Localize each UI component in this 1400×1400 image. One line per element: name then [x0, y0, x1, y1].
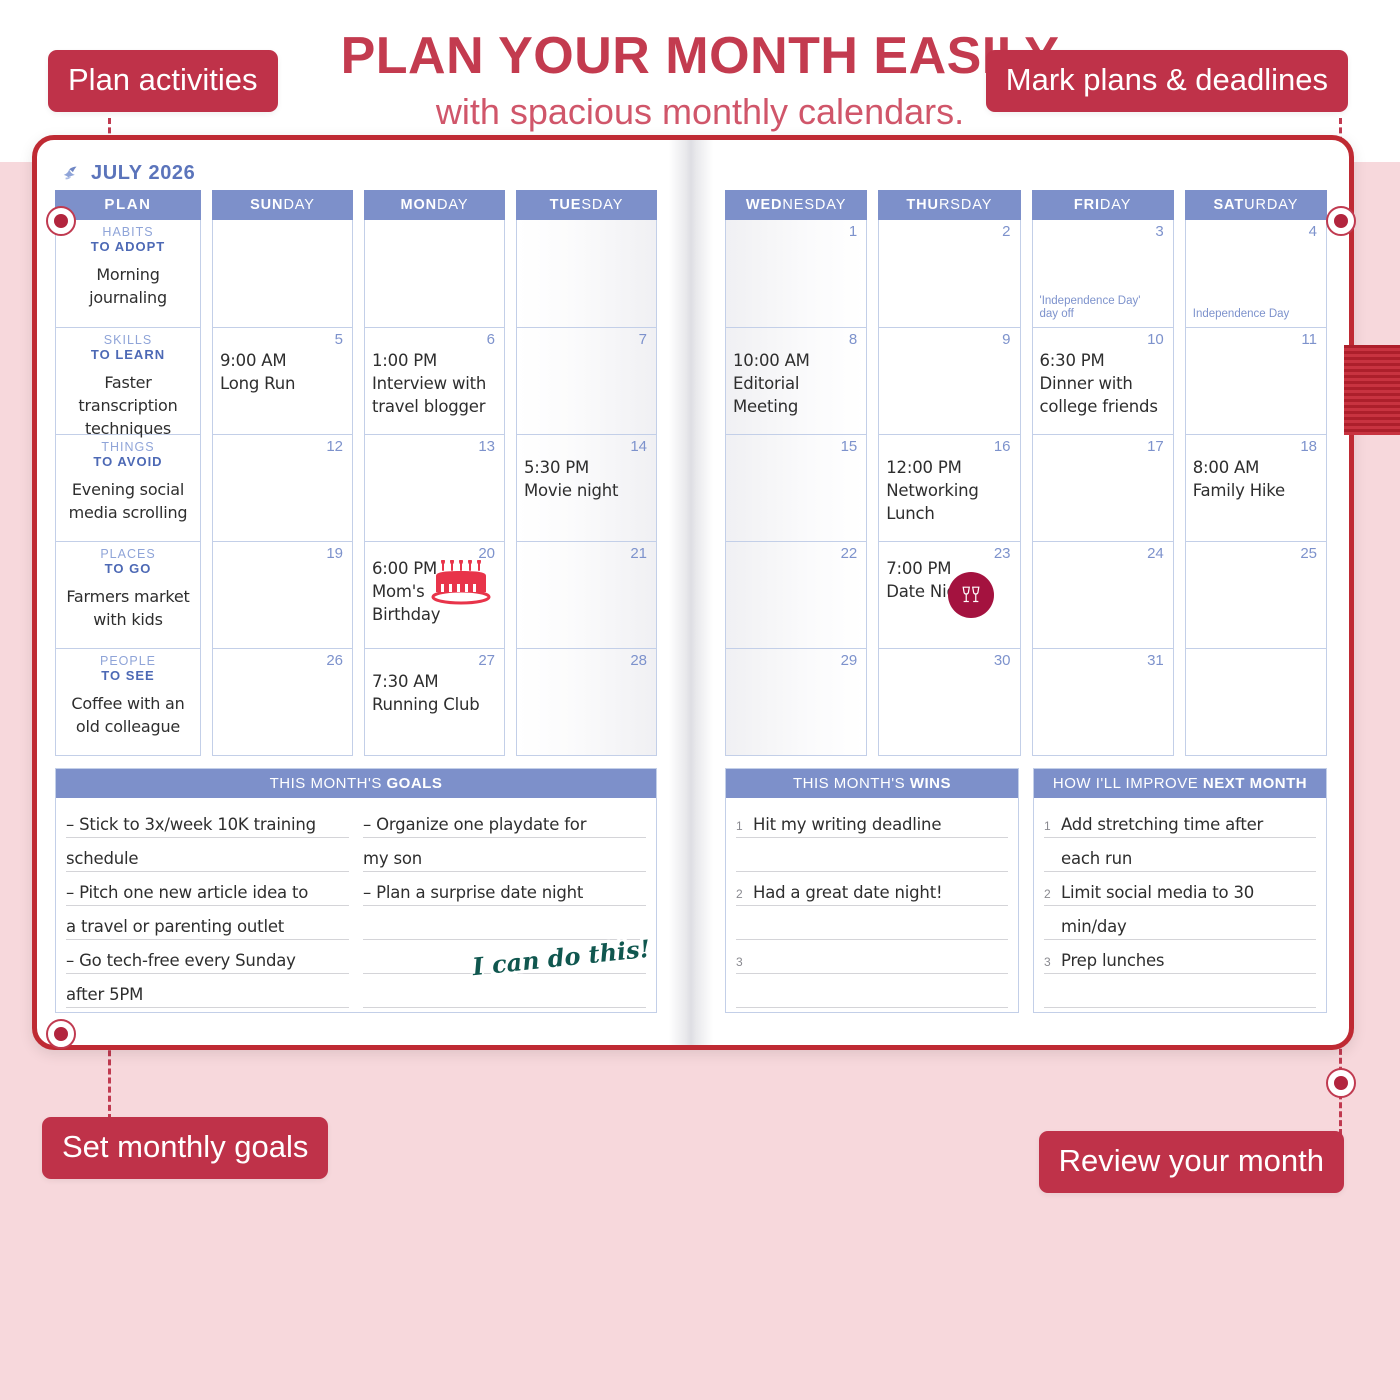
writing-line[interactable]: 3 [736, 940, 1008, 974]
calendar-cell[interactable]: 4Independence Day [1186, 220, 1326, 327]
calendar-cell[interactable]: 1 [726, 220, 866, 327]
calendar-day-number: 23 [994, 545, 1011, 562]
plan-row-value: Evening socialmedia scrolling [60, 478, 196, 524]
day-column-wednesday: WEDNESDAY 1810:00 AMEditorialMeeting1522… [725, 190, 867, 756]
line-number: 1 [1044, 819, 1050, 833]
plan-column: PLAN HABITSTO ADOPTMorningjournalingSKIL… [55, 190, 201, 756]
goals-section: THIS MONTH'S GOALS – Stick to 3x/week 10… [55, 768, 657, 1013]
calendar-day-number: 3 [1155, 223, 1163, 240]
writing-line[interactable]: 2Limit social media to 30 [1044, 872, 1316, 906]
calendar-event-text: 5:30 PMMovie night [524, 457, 649, 503]
day-header-rest: SDAY [581, 197, 623, 213]
day-column-sunday: SUNDAY 59:00 AMLong Run121926 [212, 190, 353, 756]
plan-row-1[interactable]: HABITSTO ADOPTMorningjournaling [56, 220, 200, 327]
goals-left-lines[interactable]: – Stick to 3x/week 10K trainingschedule–… [66, 804, 349, 1008]
plan-row-kicker: PLACES [60, 547, 196, 561]
plan-row-kicker: THINGS [60, 440, 196, 454]
wine-glasses-sticker [948, 572, 994, 618]
writing-line[interactable]: after 5PM [66, 974, 349, 1008]
calendar-cell[interactable]: 12 [213, 434, 352, 541]
improve-box-body: 1Add stretching time aftereach run2Limit… [1034, 798, 1326, 1012]
calendar-holiday-note: Independence Day [1193, 308, 1320, 322]
calendar-day-number: 12 [326, 438, 343, 455]
calendar-cell[interactable]: 26 [213, 648, 352, 755]
writing-line[interactable] [736, 906, 1008, 940]
day-cell-list: 3'Independence Day'day off106:30 PMDinne… [1032, 220, 1174, 756]
day-cell-list: 291612:00 PMNetworkingLunch237:00 PMDate… [878, 220, 1020, 756]
calendar-day-number: 6 [487, 331, 495, 348]
wins-header-light: THIS MONTH'S [793, 775, 910, 792]
calendar-day-number: 11 [1301, 331, 1317, 348]
calendar-day-number: 2 [1002, 223, 1010, 240]
day-cell-list: 4Independence Day11188:00 AMFamily Hike2… [1185, 220, 1327, 756]
writing-line[interactable]: 1Add stretching time after [1044, 804, 1316, 838]
calendar-day-number: 28 [630, 652, 647, 669]
plan-row-kicker: SKILLS [60, 333, 196, 347]
calendar-day-number: 17 [1147, 438, 1164, 455]
day-header-rest: DAY [1100, 197, 1131, 213]
planner-page-right: WEDNESDAY 1810:00 AMEditorialMeeting1522… [713, 140, 1345, 1045]
line-text: schedule [66, 849, 138, 868]
calendar-cell[interactable] [213, 220, 352, 327]
review-section: THIS MONTH'S WINS 1Hit my writing deadli… [725, 768, 1327, 1013]
calendar-cell[interactable]: 13 [365, 434, 504, 541]
day-header-bold: FRI [1074, 197, 1100, 213]
plan-row-value: Coffee with anold colleague [60, 692, 196, 738]
callout-plan-activities: Plan activities [48, 50, 278, 112]
writing-line[interactable] [1044, 974, 1316, 1008]
day-header-bold: MON [401, 197, 438, 213]
calendar-cell[interactable]: 17 [1033, 434, 1173, 541]
day-header-sunday: SUNDAY [212, 190, 353, 220]
line-text: Had a great date night! [753, 883, 942, 902]
calendar-day-number: 1 [849, 223, 857, 240]
calendar-event-text: 12:00 PMNetworkingLunch [886, 457, 1012, 525]
line-text: Limit social media to 30 [1061, 883, 1254, 902]
wins-box-body: 1Hit my writing deadline2Had a great dat… [726, 798, 1018, 1012]
plan-row-4[interactable]: PLACESTO GOFarmers marketwith kids [56, 541, 200, 648]
calendar-day-number: 14 [630, 438, 647, 455]
line-text: – Organize one playdate for [363, 815, 586, 834]
calendar-event-text: 10:00 AMEditorialMeeting [733, 350, 859, 418]
day-header-rest: DAY [283, 197, 314, 213]
line-text: after 5PM [66, 985, 143, 1004]
line-number: 3 [736, 955, 742, 969]
day-column-tuesday: TUESDAY 7145:30 PMMovie night2128 [516, 190, 657, 756]
day-header-bold: SAT [1213, 197, 1244, 213]
calendar-grid-right: WEDNESDAY 1810:00 AMEditorialMeeting1522… [725, 190, 1327, 756]
book-gutter [669, 140, 713, 1045]
anchor-dot-top-left [46, 206, 76, 236]
month-title: JULY 2026 [91, 162, 195, 185]
day-header-rest: NESDAY [782, 197, 846, 213]
writing-line[interactable]: – Pitch one new article idea to [66, 872, 349, 906]
anchor-dot-top-right [1326, 206, 1356, 236]
calendar-holiday-note: 'Independence Day'day off [1040, 295, 1167, 322]
calendar-day-number: 4 [1309, 223, 1317, 240]
plan-row-value: Morningjournaling [60, 263, 196, 309]
calendar-cell[interactable]: 22 [726, 541, 866, 648]
calendar-day-number: 5 [335, 331, 343, 348]
calendar-cell[interactable]: 7 [517, 327, 656, 434]
calendar-day-number: 26 [326, 652, 343, 669]
calendar-cell[interactable]: 31 [1033, 648, 1173, 755]
calendar-event-text: 7:30 AMRunning Club [372, 671, 497, 717]
line-number: 2 [736, 887, 742, 901]
calendar-cell[interactable]: 206:00 PMMom's Birthday [365, 541, 504, 648]
calendar-cell[interactable]: 61:00 PMInterview withtravel blogger [365, 327, 504, 434]
calendar-day-number: 27 [478, 652, 495, 669]
birthday-cake-sticker [430, 560, 492, 606]
plan-row-label: TO SEE [60, 668, 196, 684]
day-header-thursday: THURSDAY [878, 190, 1020, 220]
plan-row-3[interactable]: THINGSTO AVOIDEvening socialmedia scroll… [56, 434, 200, 541]
day-header-rest: RSDAY [939, 197, 992, 213]
day-cell-list: 61:00 PMInterview withtravel blogger1320… [364, 220, 505, 756]
calendar-cell[interactable]: 237:00 PMDate Night [879, 541, 1019, 648]
day-column-monday: MONDAY 61:00 PMInterview withtravel blog… [364, 190, 505, 756]
plan-row-label: TO LEARN [60, 347, 196, 363]
day-cell-list: 1810:00 AMEditorialMeeting152229 [725, 220, 867, 756]
calendar-cell[interactable]: 21 [517, 541, 656, 648]
calendar-cell[interactable]: 24 [1033, 541, 1173, 648]
calendar-cell[interactable]: 9 [879, 327, 1019, 434]
calendar-day-number: 22 [841, 545, 858, 562]
plan-row-kicker: HABITS [60, 225, 196, 239]
callout-mark-plans-deadlines: Mark plans & deadlines [986, 50, 1348, 112]
plan-row-label: TO ADOPT [60, 239, 196, 255]
line-text: my son [363, 849, 422, 868]
writing-line[interactable]: – Go tech-free every Sunday [66, 940, 349, 974]
goals-box: THIS MONTH'S GOALS – Stick to 3x/week 10… [55, 768, 657, 1013]
line-number: 1 [736, 819, 742, 833]
calendar-cell[interactable]: 277:30 AMRunning Club [365, 648, 504, 755]
writing-line[interactable] [363, 974, 646, 1008]
calendar-day-number: 31 [1147, 652, 1164, 669]
writing-line[interactable]: – Plan a surprise date night [363, 872, 646, 906]
day-header-friday: FRIDAY [1032, 190, 1174, 220]
banner-subtitle: with spacious monthly calendars. [436, 91, 964, 133]
day-header-rest: DAY [437, 197, 468, 213]
calendar-day-number: 8 [849, 331, 857, 348]
calendar-cell[interactable]: 25 [1186, 541, 1326, 648]
improve-box: HOW I'LL IMPROVE NEXT MONTH 1Add stretch… [1033, 768, 1327, 1013]
writing-line[interactable]: a travel or parenting outlet [66, 906, 349, 940]
day-header-bold: TUE [550, 197, 582, 213]
calendar-day-number: 19 [326, 545, 343, 562]
anchor-dot-bottom-left [46, 1019, 76, 1049]
calendar-day-number: 30 [994, 652, 1011, 669]
line-text: each run [1061, 849, 1132, 868]
line-text: – Stick to 3x/week 10K training [66, 815, 316, 834]
calendar-day-number: 29 [841, 652, 858, 669]
writing-line[interactable]: – Organize one playdate for [363, 804, 646, 838]
writing-line[interactable]: 1Hit my writing deadline [736, 804, 1008, 838]
line-text: – Go tech-free every Sunday [66, 951, 296, 970]
calendar-day-number: 21 [630, 545, 647, 562]
calendar-day-number: 9 [1002, 331, 1010, 348]
calendar-cell[interactable]: 188:00 AMFamily Hike [1186, 434, 1326, 541]
day-header-bold: SUN [250, 197, 283, 213]
plan-row-value: Fastertranscriptiontechniques [60, 371, 196, 441]
line-number: 2 [1044, 887, 1050, 901]
plan-cell-list: HABITSTO ADOPTMorningjournalingSKILLSTO … [55, 220, 201, 756]
calendar-day-number: 15 [841, 438, 858, 455]
calendar-cell[interactable]: 15 [726, 434, 866, 541]
line-text: Prep lunches [1061, 951, 1164, 970]
wins-box: THIS MONTH'S WINS 1Hit my writing deadli… [725, 768, 1019, 1013]
calendar-cell[interactable] [517, 220, 656, 327]
plan-column-header: PLAN [55, 190, 201, 220]
line-text: – Pitch one new article idea to [66, 883, 308, 902]
calendar-grid-left: PLAN HABITSTO ADOPTMorningjournalingSKIL… [55, 190, 657, 756]
planner-page-left: JULY 2026 PLAN HABITSTO ADOPTMorningjour… [37, 140, 669, 1045]
writing-line[interactable] [736, 838, 1008, 872]
bird-logo-icon [61, 162, 83, 184]
calendar-cell[interactable] [365, 220, 504, 327]
day-column-thursday: THURSDAY 291612:00 PMNetworkingLunch237:… [878, 190, 1020, 756]
banner-title: PLAN YOUR MONTH EASILY [341, 29, 1060, 84]
calendar-day-number: 13 [478, 438, 495, 455]
calendar-cell[interactable]: 11 [1186, 327, 1326, 434]
calendar-cell[interactable]: 30 [879, 648, 1019, 755]
day-header-monday: MONDAY [364, 190, 505, 220]
calendar-cell[interactable]: 1612:00 PMNetworkingLunch [879, 434, 1019, 541]
anchor-dot-bottom-right [1326, 1068, 1356, 1098]
callout-review-your-month: Review your month [1039, 1131, 1344, 1193]
plan-row-kicker: PEOPLE [60, 654, 196, 668]
calendar-day-number: 16 [994, 438, 1011, 455]
calendar-event-text: 6:30 PMDinner withcollege friends [1040, 350, 1166, 418]
calendar-cell[interactable] [1186, 648, 1326, 755]
calendar-day-number: 25 [1300, 545, 1317, 562]
planner-spread: JULY 2026 PLAN HABITSTO ADOPTMorningjour… [32, 135, 1354, 1050]
day-header-wednesday: WEDNESDAY [725, 190, 867, 220]
month-header: JULY 2026 [55, 156, 657, 190]
plan-row-value: Farmers marketwith kids [60, 585, 196, 631]
calendar-event-text: 8:00 AMFamily Hike [1193, 457, 1319, 503]
callout-set-monthly-goals: Set monthly goals [42, 1117, 328, 1179]
writing-line[interactable]: 3Prep lunches [1044, 940, 1316, 974]
calendar-event-text: 9:00 AMLong Run [220, 350, 345, 396]
writing-line[interactable]: – Stick to 3x/week 10K training [66, 804, 349, 838]
line-text: – Plan a surprise date night [363, 883, 583, 902]
calendar-cell[interactable]: 59:00 AMLong Run [213, 327, 352, 434]
writing-line[interactable]: each run [1044, 838, 1316, 872]
goals-box-header: THIS MONTH'S GOALS [56, 769, 656, 798]
wins-header-bold: WINS [910, 775, 951, 792]
day-cell-list: 59:00 AMLong Run121926 [212, 220, 353, 756]
wins-box-header: THIS MONTH'S WINS [726, 769, 1018, 798]
day-column-saturday: SATURDAY 4Independence Day11188:00 AMFam… [1185, 190, 1327, 756]
writing-line[interactable]: 2Had a great date night! [736, 872, 1008, 906]
line-text: Add stretching time after [1061, 815, 1263, 834]
goals-header-bold: GOALS [387, 775, 443, 792]
calendar-cell[interactable]: 2 [879, 220, 1019, 327]
day-header-rest: URDAY [1244, 197, 1298, 213]
calendar-cell[interactable]: 145:30 PMMovie night [517, 434, 656, 541]
line-text: Hit my writing deadline [753, 815, 941, 834]
wins-line-list[interactable]: 1Hit my writing deadline2Had a great dat… [736, 804, 1008, 1008]
plan-row-label: TO GO [60, 561, 196, 577]
plan-row-2[interactable]: SKILLSTO LEARNFastertranscriptiontechniq… [56, 327, 200, 434]
goals-header-light: THIS MONTH'S [270, 775, 387, 792]
calendar-cell[interactable]: 28 [517, 648, 656, 755]
line-number: 3 [1044, 955, 1050, 969]
improve-header-bold: NEXT MONTH [1203, 775, 1307, 792]
calendar-cell[interactable]: 106:30 PMDinner withcollege friends [1033, 327, 1173, 434]
plan-row-label: TO AVOID [60, 454, 196, 470]
improve-header-light: HOW I'LL IMPROVE [1053, 775, 1203, 792]
calendar-cell[interactable]: 29 [726, 648, 866, 755]
calendar-day-number: 18 [1300, 438, 1317, 455]
goals-box-body: – Stick to 3x/week 10K trainingschedule–… [56, 798, 656, 1012]
writing-line[interactable]: schedule [66, 838, 349, 872]
plan-row-5[interactable]: PEOPLETO SEECoffee with anold colleague [56, 648, 200, 755]
calendar-day-number: 7 [639, 331, 647, 348]
writing-line[interactable]: my son [363, 838, 646, 872]
calendar-day-number: 24 [1147, 545, 1164, 562]
writing-line[interactable] [363, 906, 646, 940]
line-text: min/day [1061, 917, 1127, 936]
calendar-event-text: 1:00 PMInterview withtravel blogger [372, 350, 497, 418]
day-header-bold: THU [906, 197, 939, 213]
day-cell-list: 7145:30 PMMovie night2128 [516, 220, 657, 756]
day-header-tuesday: TUESDAY [516, 190, 657, 220]
bookmark-ribbon [1344, 345, 1400, 435]
improve-box-header: HOW I'LL IMPROVE NEXT MONTH [1034, 769, 1326, 798]
improve-line-list[interactable]: 1Add stretching time aftereach run2Limit… [1044, 804, 1316, 1008]
calendar-cell[interactable]: 3'Independence Day'day off [1033, 220, 1173, 327]
writing-line[interactable] [736, 974, 1008, 1008]
line-text: a travel or parenting outlet [66, 917, 284, 936]
calendar-cell[interactable]: 19 [213, 541, 352, 648]
day-header-saturday: SATURDAY [1185, 190, 1327, 220]
day-column-friday: FRIDAY 3'Independence Day'day off106:30 … [1032, 190, 1174, 756]
day-header-bold: WED [746, 197, 783, 213]
calendar-cell[interactable]: 810:00 AMEditorialMeeting [726, 327, 866, 434]
calendar-day-number: 10 [1147, 331, 1164, 348]
writing-line[interactable]: min/day [1044, 906, 1316, 940]
